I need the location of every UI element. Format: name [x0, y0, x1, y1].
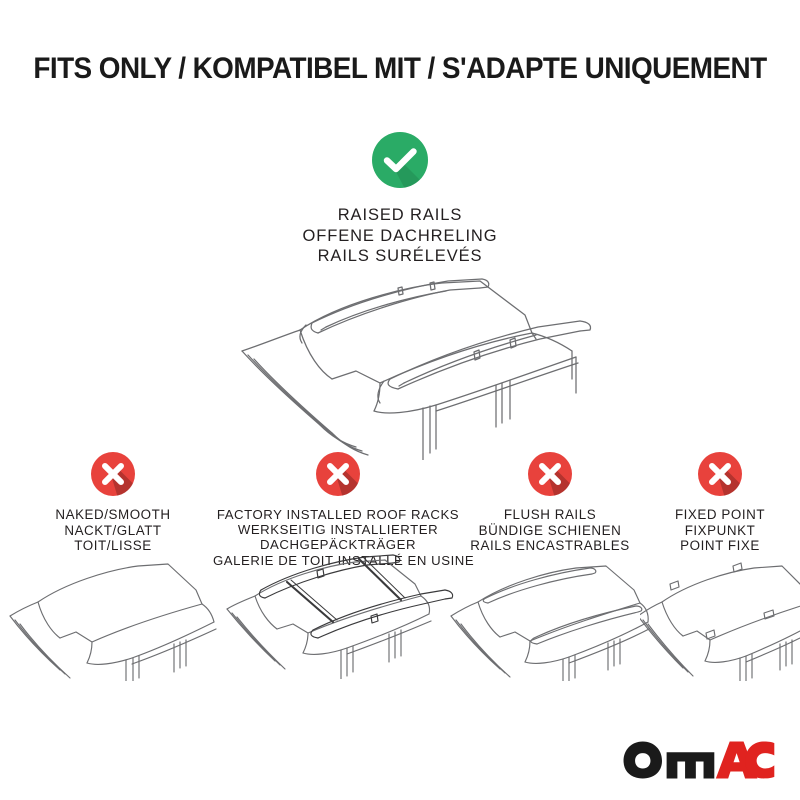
option-labels: FIXED POINT FIXPUNKT POINT FIXE: [640, 507, 800, 554]
label-en: NAKED/SMOOTH: [8, 507, 218, 523]
compatible-option: RAISED RAILS OFFENE DACHRELING RAILS SUR…: [200, 132, 600, 267]
car-roof-naked-smooth-illustration: [8, 556, 218, 681]
label-fr: RAILS ENCASTRABLES: [450, 538, 650, 554]
option-labels: FLUSH RAILS BÜNDIGE SCHIENEN RAILS ENCAS…: [450, 507, 650, 554]
label-en: FACTORY INSTALLED ROOF RACKS: [213, 507, 463, 522]
x-circle-icon: [528, 452, 572, 496]
label-de-1: WERKSEITIG INSTALLIERTER: [213, 522, 463, 537]
label-de: BÜNDIGE SCHIENEN: [450, 523, 650, 539]
label-de: OFFENE DACHRELING: [200, 226, 600, 247]
x-circle-icon: [91, 452, 135, 496]
incompatible-option-flush-rails: FLUSH RAILS BÜNDIGE SCHIENEN RAILS ENCAS…: [450, 452, 650, 554]
x-mark-icon: [91, 452, 135, 496]
incompatible-option-fixed-point: FIXED POINT FIXPUNKT POINT FIXE: [640, 452, 800, 554]
label-de: NACKT/GLATT: [8, 523, 218, 539]
label-en: FLUSH RAILS: [450, 507, 650, 523]
label-fr: POINT FIXE: [640, 538, 800, 554]
x-circle-icon: [698, 452, 742, 496]
car-roof-flush-rails-illustration: [450, 556, 650, 681]
option-labels: NAKED/SMOOTH NACKT/GLATT TOIT/LISSE: [8, 507, 218, 554]
page-title: FITS ONLY / KOMPATIBEL MIT / S'ADAPTE UN…: [28, 52, 772, 86]
incompatible-option-factory-rack: FACTORY INSTALLED ROOF RACKS WERKSEITIG …: [213, 452, 463, 568]
x-circle-icon: [316, 452, 360, 496]
incompatible-option-naked-smooth: NAKED/SMOOTH NACKT/GLATT TOIT/LISSE: [8, 452, 218, 554]
check-mark-icon: [372, 132, 428, 188]
label-en: RAISED RAILS: [200, 205, 600, 226]
compatible-labels: RAISED RAILS OFFENE DACHRELING RAILS SUR…: [200, 205, 600, 267]
label-de: FIXPUNKT: [640, 523, 800, 539]
check-circle-icon: [372, 132, 428, 188]
car-roof-factory-rack-illustration: [213, 544, 463, 679]
car-roof-fixed-point-illustration: [640, 556, 800, 681]
car-roof-raised-rails-illustration: [180, 275, 640, 460]
omac-logo: [622, 740, 776, 780]
x-mark-icon: [528, 452, 572, 496]
x-mark-icon: [698, 452, 742, 496]
x-mark-icon: [316, 452, 360, 496]
label-fr: TOIT/LISSE: [8, 538, 218, 554]
label-en: FIXED POINT: [640, 507, 800, 523]
label-fr: RAILS SURÉLEVÉS: [200, 246, 600, 267]
